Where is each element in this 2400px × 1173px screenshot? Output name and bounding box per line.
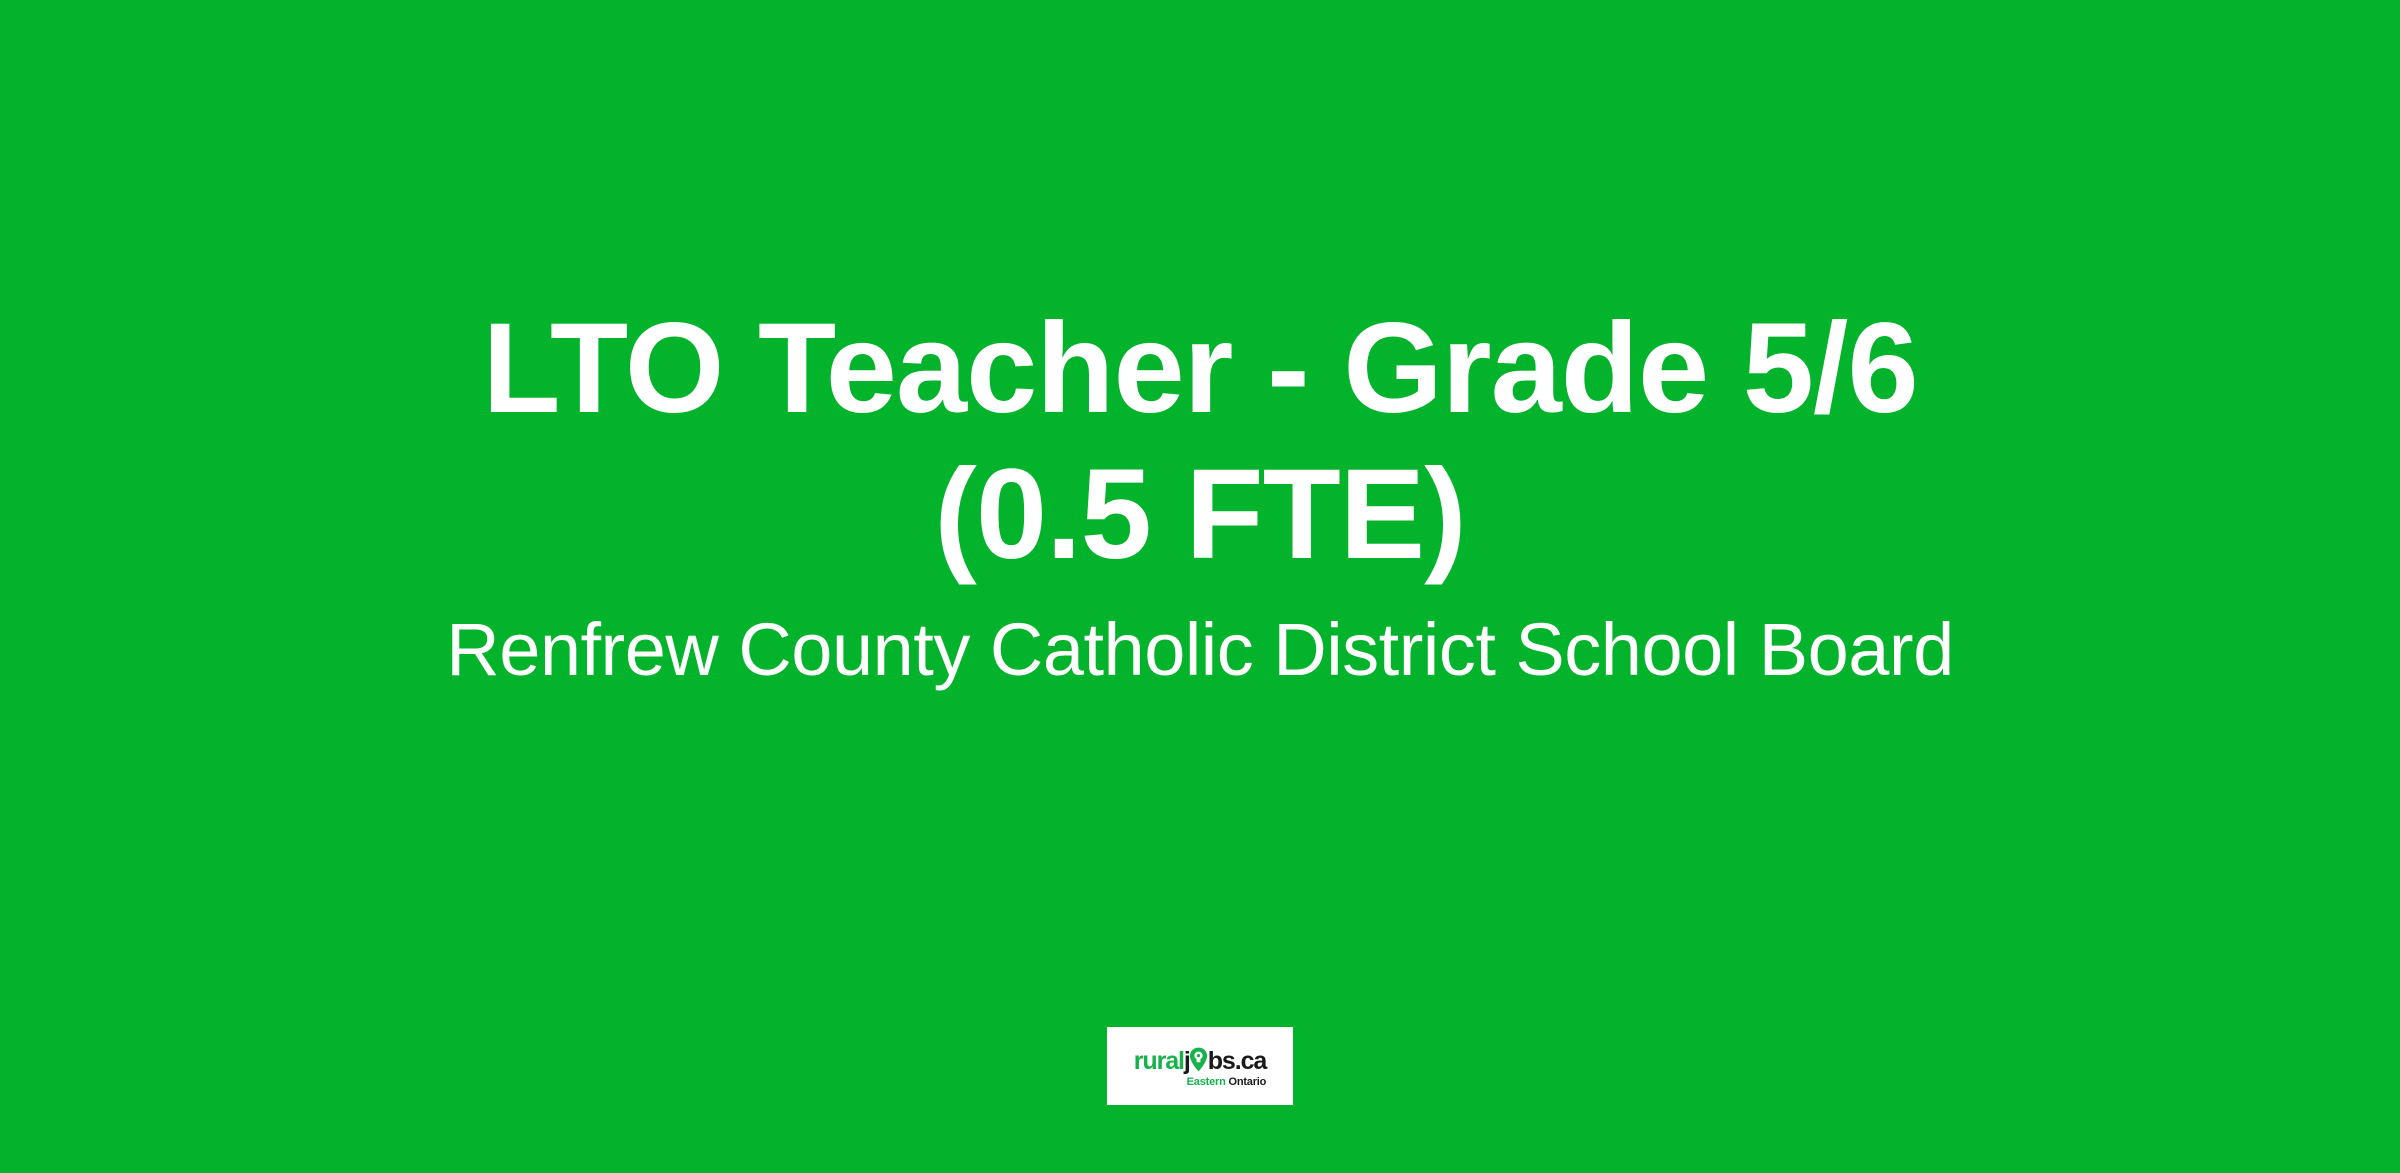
job-share-card: LTO Teacher - Grade 5/6 (0.5 FTE) Renfre… <box>0 0 2400 1173</box>
ruraljobs-logo: rural j bs.ca Eastern Ontario <box>1134 1044 1266 1088</box>
logo-wordmark: rural j bs.ca <box>1134 1044 1266 1074</box>
ruraljobs-logo-card[interactable]: rural j bs.ca Eastern Ontario <box>1107 1027 1293 1105</box>
logo-tagline-eastern: Eastern <box>1187 1076 1226 1088</box>
employer-name: Renfrew County Catholic District School … <box>170 588 2230 696</box>
logo-wordmark-rural: rural <box>1134 1049 1184 1074</box>
map-pin-icon <box>1189 1047 1208 1072</box>
logo-wordmark-bsca: bs.ca <box>1208 1049 1266 1074</box>
page-title: LTO Teacher - Grade 5/6 (0.5 FTE) <box>390 296 2010 588</box>
logo-tagline: Eastern Ontario <box>1187 1077 1267 1088</box>
logo-tagline-ontario: Ontario <box>1228 1076 1266 1088</box>
job-card-text-block: LTO Teacher - Grade 5/6 (0.5 FTE) Renfre… <box>0 0 2400 1173</box>
